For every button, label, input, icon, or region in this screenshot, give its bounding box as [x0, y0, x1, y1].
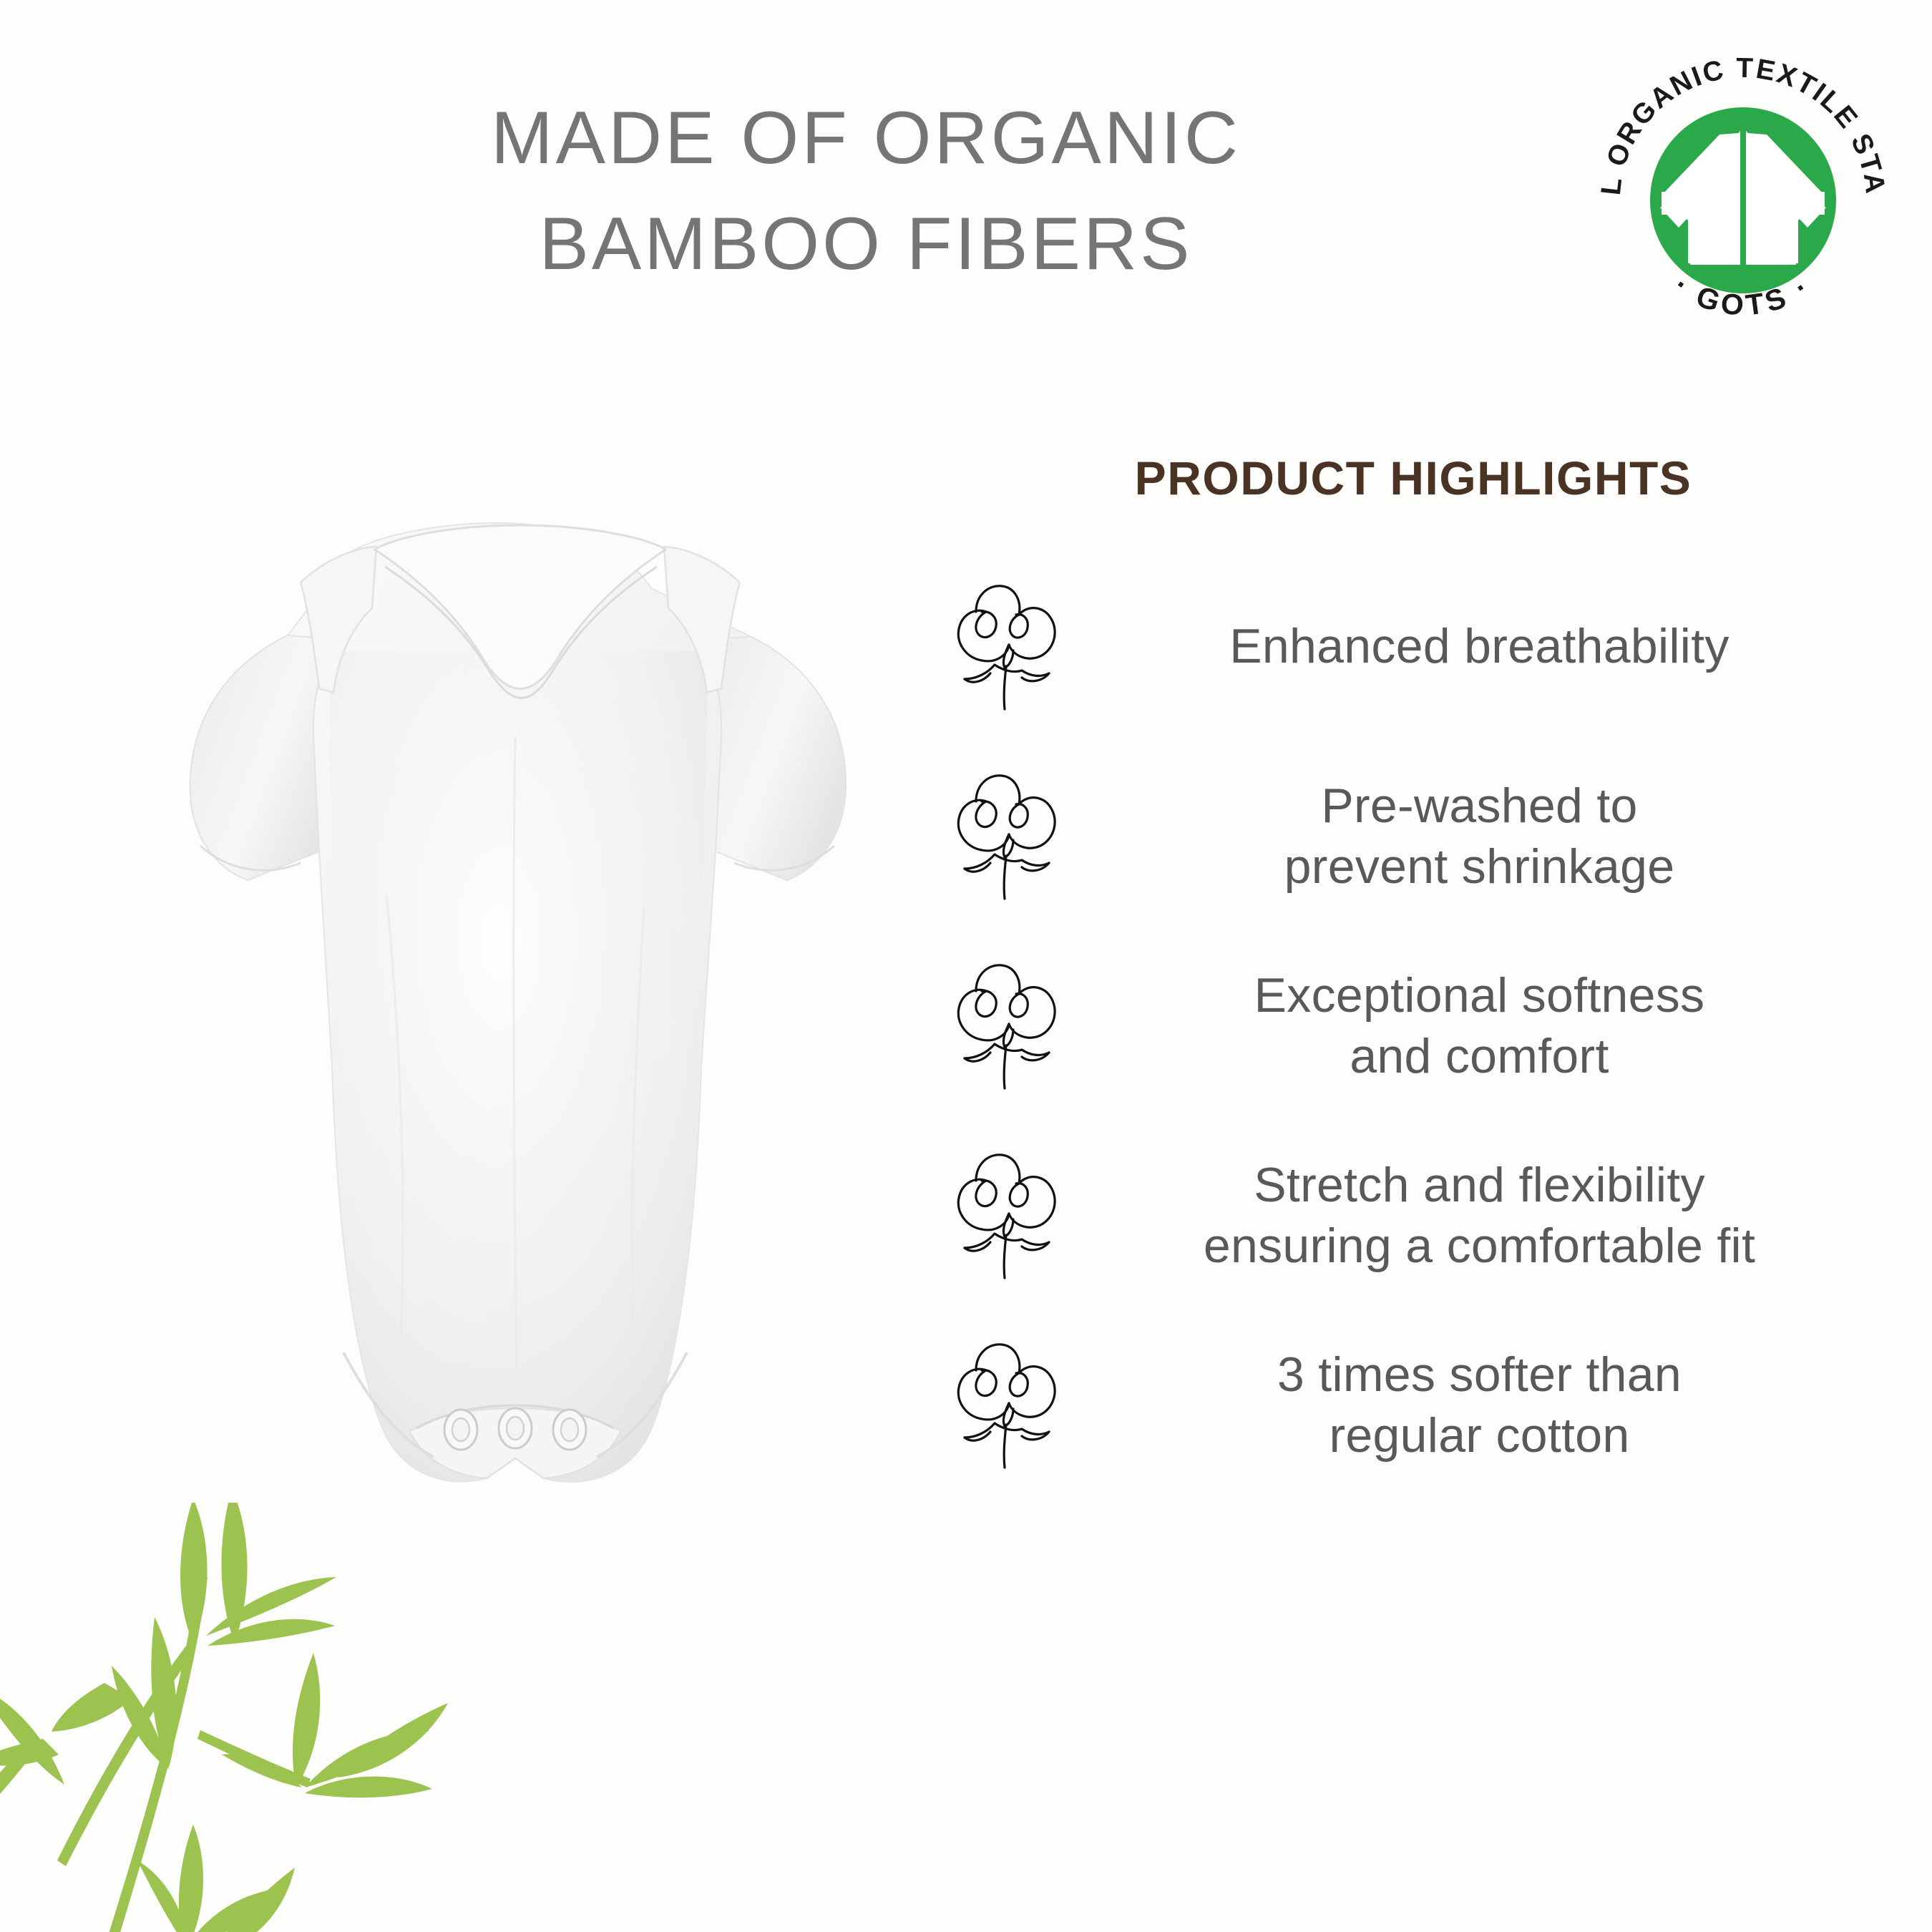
page-title-line-1: MADE OF ORGANIC [401, 86, 1331, 192]
product-highlights-section: PRODUCT HIGHLIGHTS [937, 451, 1889, 1482]
feature-line: Exceptional softness [1084, 965, 1875, 1026]
highlights-list: Enhanced breathability [937, 570, 1889, 1482]
list-item: Enhanced breathability [937, 570, 1889, 723]
list-item: 3 times softer than regular cotton [937, 1328, 1889, 1482]
highlights-heading: PRODUCT HIGHLIGHTS [937, 451, 1889, 505]
cotton-boll-icon [937, 1335, 1077, 1475]
list-item: Exceptional softness and comfort [937, 949, 1889, 1103]
feature-line: Enhanced breathability [1084, 616, 1875, 677]
feature-line: ensuring a comfortable fit [1084, 1216, 1875, 1277]
cotton-boll-icon [937, 577, 1077, 716]
gots-certification-badge: GLOBAL ORGANIC TEXTILE STANDARD · GOTS · [1571, 13, 1915, 371]
list-item-text: Exceptional softness and comfort [1077, 965, 1889, 1087]
feature-line: prevent shrinkage [1084, 836, 1875, 897]
cotton-boll-icon [937, 956, 1077, 1096]
page-title: MADE OF ORGANIC BAMBOO FIBERS [401, 86, 1331, 297]
bodysuit-snap-group [444, 1408, 586, 1450]
feature-line: and comfort [1084, 1026, 1875, 1087]
baby-bodysuit-image [86, 522, 959, 1674]
list-item: Stretch and flexibility ensuring a comfo… [937, 1138, 1889, 1292]
gots-arrow-notch [1740, 138, 1742, 265]
page-title-line-2: BAMBOO FIBERS [401, 192, 1331, 298]
feature-line: Pre-washed to [1084, 776, 1875, 836]
list-item-text: Pre-washed to prevent shrinkage [1077, 776, 1889, 897]
feature-line: 3 times softer than [1084, 1345, 1875, 1405]
list-item-text: Enhanced breathability [1077, 616, 1889, 677]
cotton-boll-icon [937, 766, 1077, 906]
cotton-boll-icon [937, 1146, 1077, 1285]
product-infographic-page: MADE OF ORGANIC BAMBOO FIBERS GLOBAL ORG… [0, 0, 1932, 1932]
feature-line: regular cotton [1084, 1405, 1875, 1466]
list-item-text: 3 times softer than regular cotton [1077, 1345, 1889, 1466]
list-item: Pre-washed to prevent shrinkage [937, 759, 1889, 913]
feature-line: Stretch and flexibility [1084, 1155, 1875, 1216]
bodysuit-shading [329, 651, 708, 1482]
list-item-text: Stretch and flexibility ensuring a comfo… [1077, 1155, 1889, 1277]
